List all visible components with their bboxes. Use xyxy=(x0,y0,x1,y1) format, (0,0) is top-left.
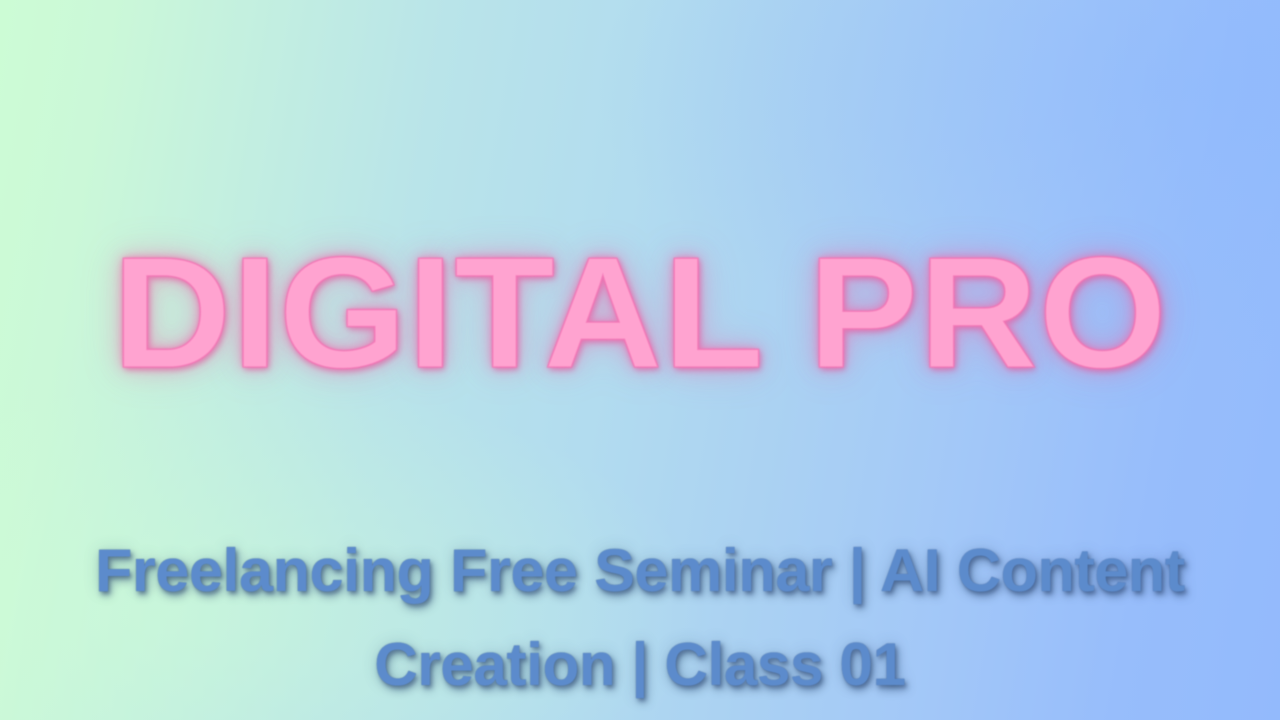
subtitle-line-1: Freelancing Free Seminar | AI Content xyxy=(0,524,1280,618)
text-stack: DIGITAL PRO Freelancing Free Seminar | A… xyxy=(0,0,1280,720)
thumbnail-canvas: DIGITAL PRO Freelancing Free Seminar | A… xyxy=(0,0,1280,720)
page-title: DIGITAL PRO xyxy=(0,234,1280,392)
subtitle-line-2: Creation | Class 01 xyxy=(0,618,1280,712)
subtitle: Freelancing Free Seminar | AI Content Cr… xyxy=(0,524,1280,712)
